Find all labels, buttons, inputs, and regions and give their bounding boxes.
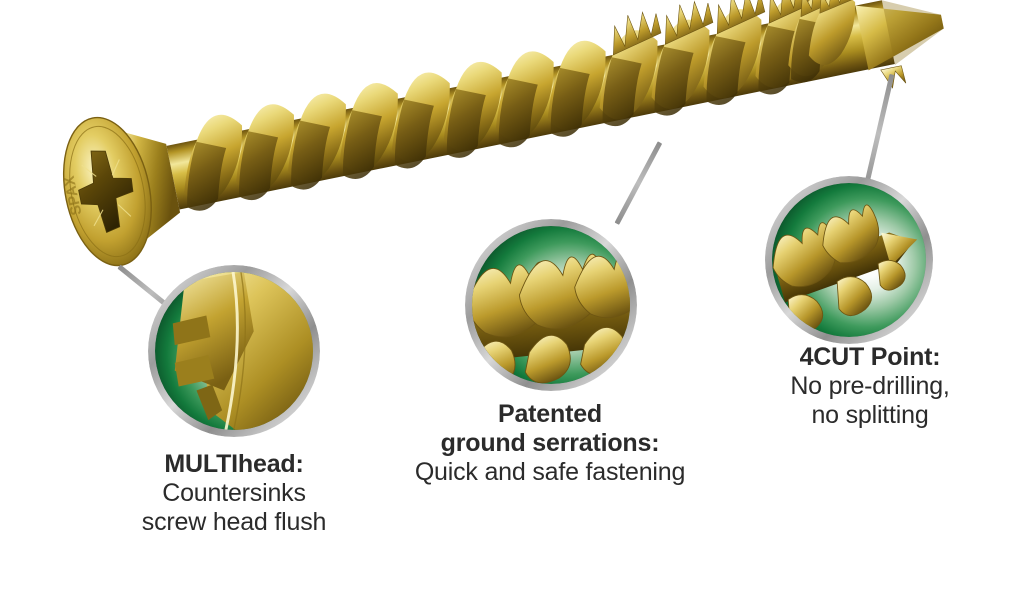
callout-line-multihead-1: Countersinks: [104, 479, 364, 508]
callout-line-multihead-2: screw head flush: [104, 508, 364, 537]
product-feature-illustration: SPAX: [0, 0, 1024, 597]
bubble-inner: [155, 272, 313, 430]
callout-caption-serrations: Patented ground serrations: Quick and sa…: [390, 400, 710, 487]
bubble-inner: [472, 226, 630, 384]
bubble-inner: [772, 183, 926, 337]
magnifier-bubble-head: [148, 265, 320, 437]
magnifier-bubble-point: [765, 176, 933, 344]
callout-line-4cut-1: No pre-drilling,: [735, 372, 1005, 401]
callout-title-serrations-line-2: ground serrations:: [390, 429, 710, 458]
callout-title-serrations-line-1: Patented: [390, 400, 710, 429]
callout-title-multihead: MULTIhead:: [104, 450, 364, 479]
callout-line-serrations-1: Quick and safe fastening: [390, 458, 710, 487]
magnifier-bubble-serrations: [465, 219, 637, 391]
callout-caption-4cut: 4CUT Point: No pre-drilling, no splittin…: [735, 343, 1005, 430]
callout-caption-multihead: MULTIhead: Countersinks screw head flush: [104, 450, 364, 537]
callout-title-4cut: 4CUT Point:: [735, 343, 1005, 372]
callout-line-4cut-2: no splitting: [735, 401, 1005, 430]
